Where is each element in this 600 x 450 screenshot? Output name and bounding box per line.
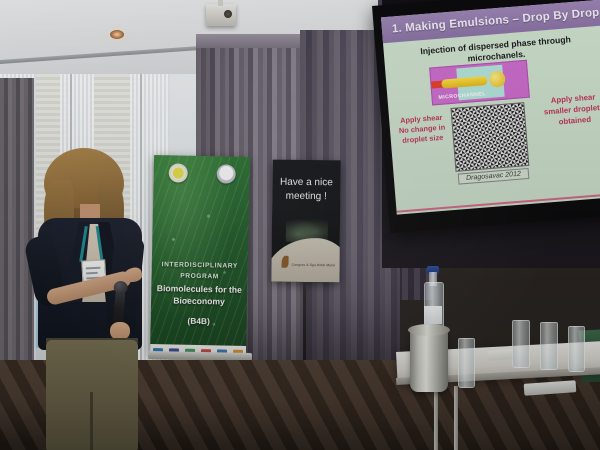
slide-title: 1. Making Emulsions – Drop By Drop bbox=[381, 7, 599, 36]
projector-lens bbox=[224, 10, 232, 18]
emulsion-micrograph bbox=[450, 102, 529, 172]
ice-bucket bbox=[410, 330, 448, 392]
drinking-glass bbox=[512, 320, 530, 368]
welcome-message: Have a nice meeting ! bbox=[272, 176, 340, 204]
projection-screen: 1. Making Emulsions – Drop By Drop Injec… bbox=[372, 0, 600, 233]
ceiling-light-icon bbox=[110, 30, 124, 39]
table-leg bbox=[454, 386, 458, 450]
leg-separation bbox=[90, 392, 93, 450]
badge-text-line bbox=[86, 272, 98, 274]
projector-mount bbox=[218, 0, 223, 6]
welcome-sign: Have a nice meeting ! Congres & Spa Hote… bbox=[271, 160, 340, 283]
banner-logo-row bbox=[154, 161, 250, 185]
program-logo-icon bbox=[216, 164, 235, 183]
microchannel-diagram: MICROCHANNEL bbox=[429, 60, 530, 106]
table-leg bbox=[434, 384, 438, 450]
presenter bbox=[24, 140, 154, 450]
drinking-glass bbox=[568, 326, 585, 372]
slide-bottom-rule bbox=[396, 193, 600, 213]
banner-acronym: (B4B) bbox=[151, 315, 247, 327]
roll-up-banner: INTERDISCIPLINARY PROGRAM Biomolecules f… bbox=[150, 155, 250, 357]
drinking-glass bbox=[458, 338, 475, 388]
banner-title: Biomolecules for the Bioeconomy bbox=[151, 283, 247, 308]
slide: 1. Making Emulsions – Drop By Drop Injec… bbox=[381, 0, 600, 215]
projector-icon bbox=[206, 4, 236, 26]
sign-stand bbox=[303, 282, 306, 370]
napkin bbox=[488, 349, 515, 361]
hotel-logo-icon bbox=[282, 256, 289, 268]
slide-left-text: Apply shear No change in droplet size bbox=[395, 112, 449, 146]
bottle-label bbox=[424, 306, 442, 324]
presentation-photo-scene: 1. Making Emulsions – Drop By Drop Injec… bbox=[0, 0, 600, 450]
university-logo-icon bbox=[168, 163, 187, 182]
badge-text-line bbox=[86, 267, 101, 269]
drinking-glass bbox=[540, 322, 558, 370]
banner-kicker: INTERDISCIPLINARY PROGRAM bbox=[151, 259, 247, 283]
slide-right-text: Apply shear smaller droplets obtained bbox=[538, 91, 600, 129]
hotel-name: Congres & Spa Hotel Maria bbox=[292, 263, 338, 269]
